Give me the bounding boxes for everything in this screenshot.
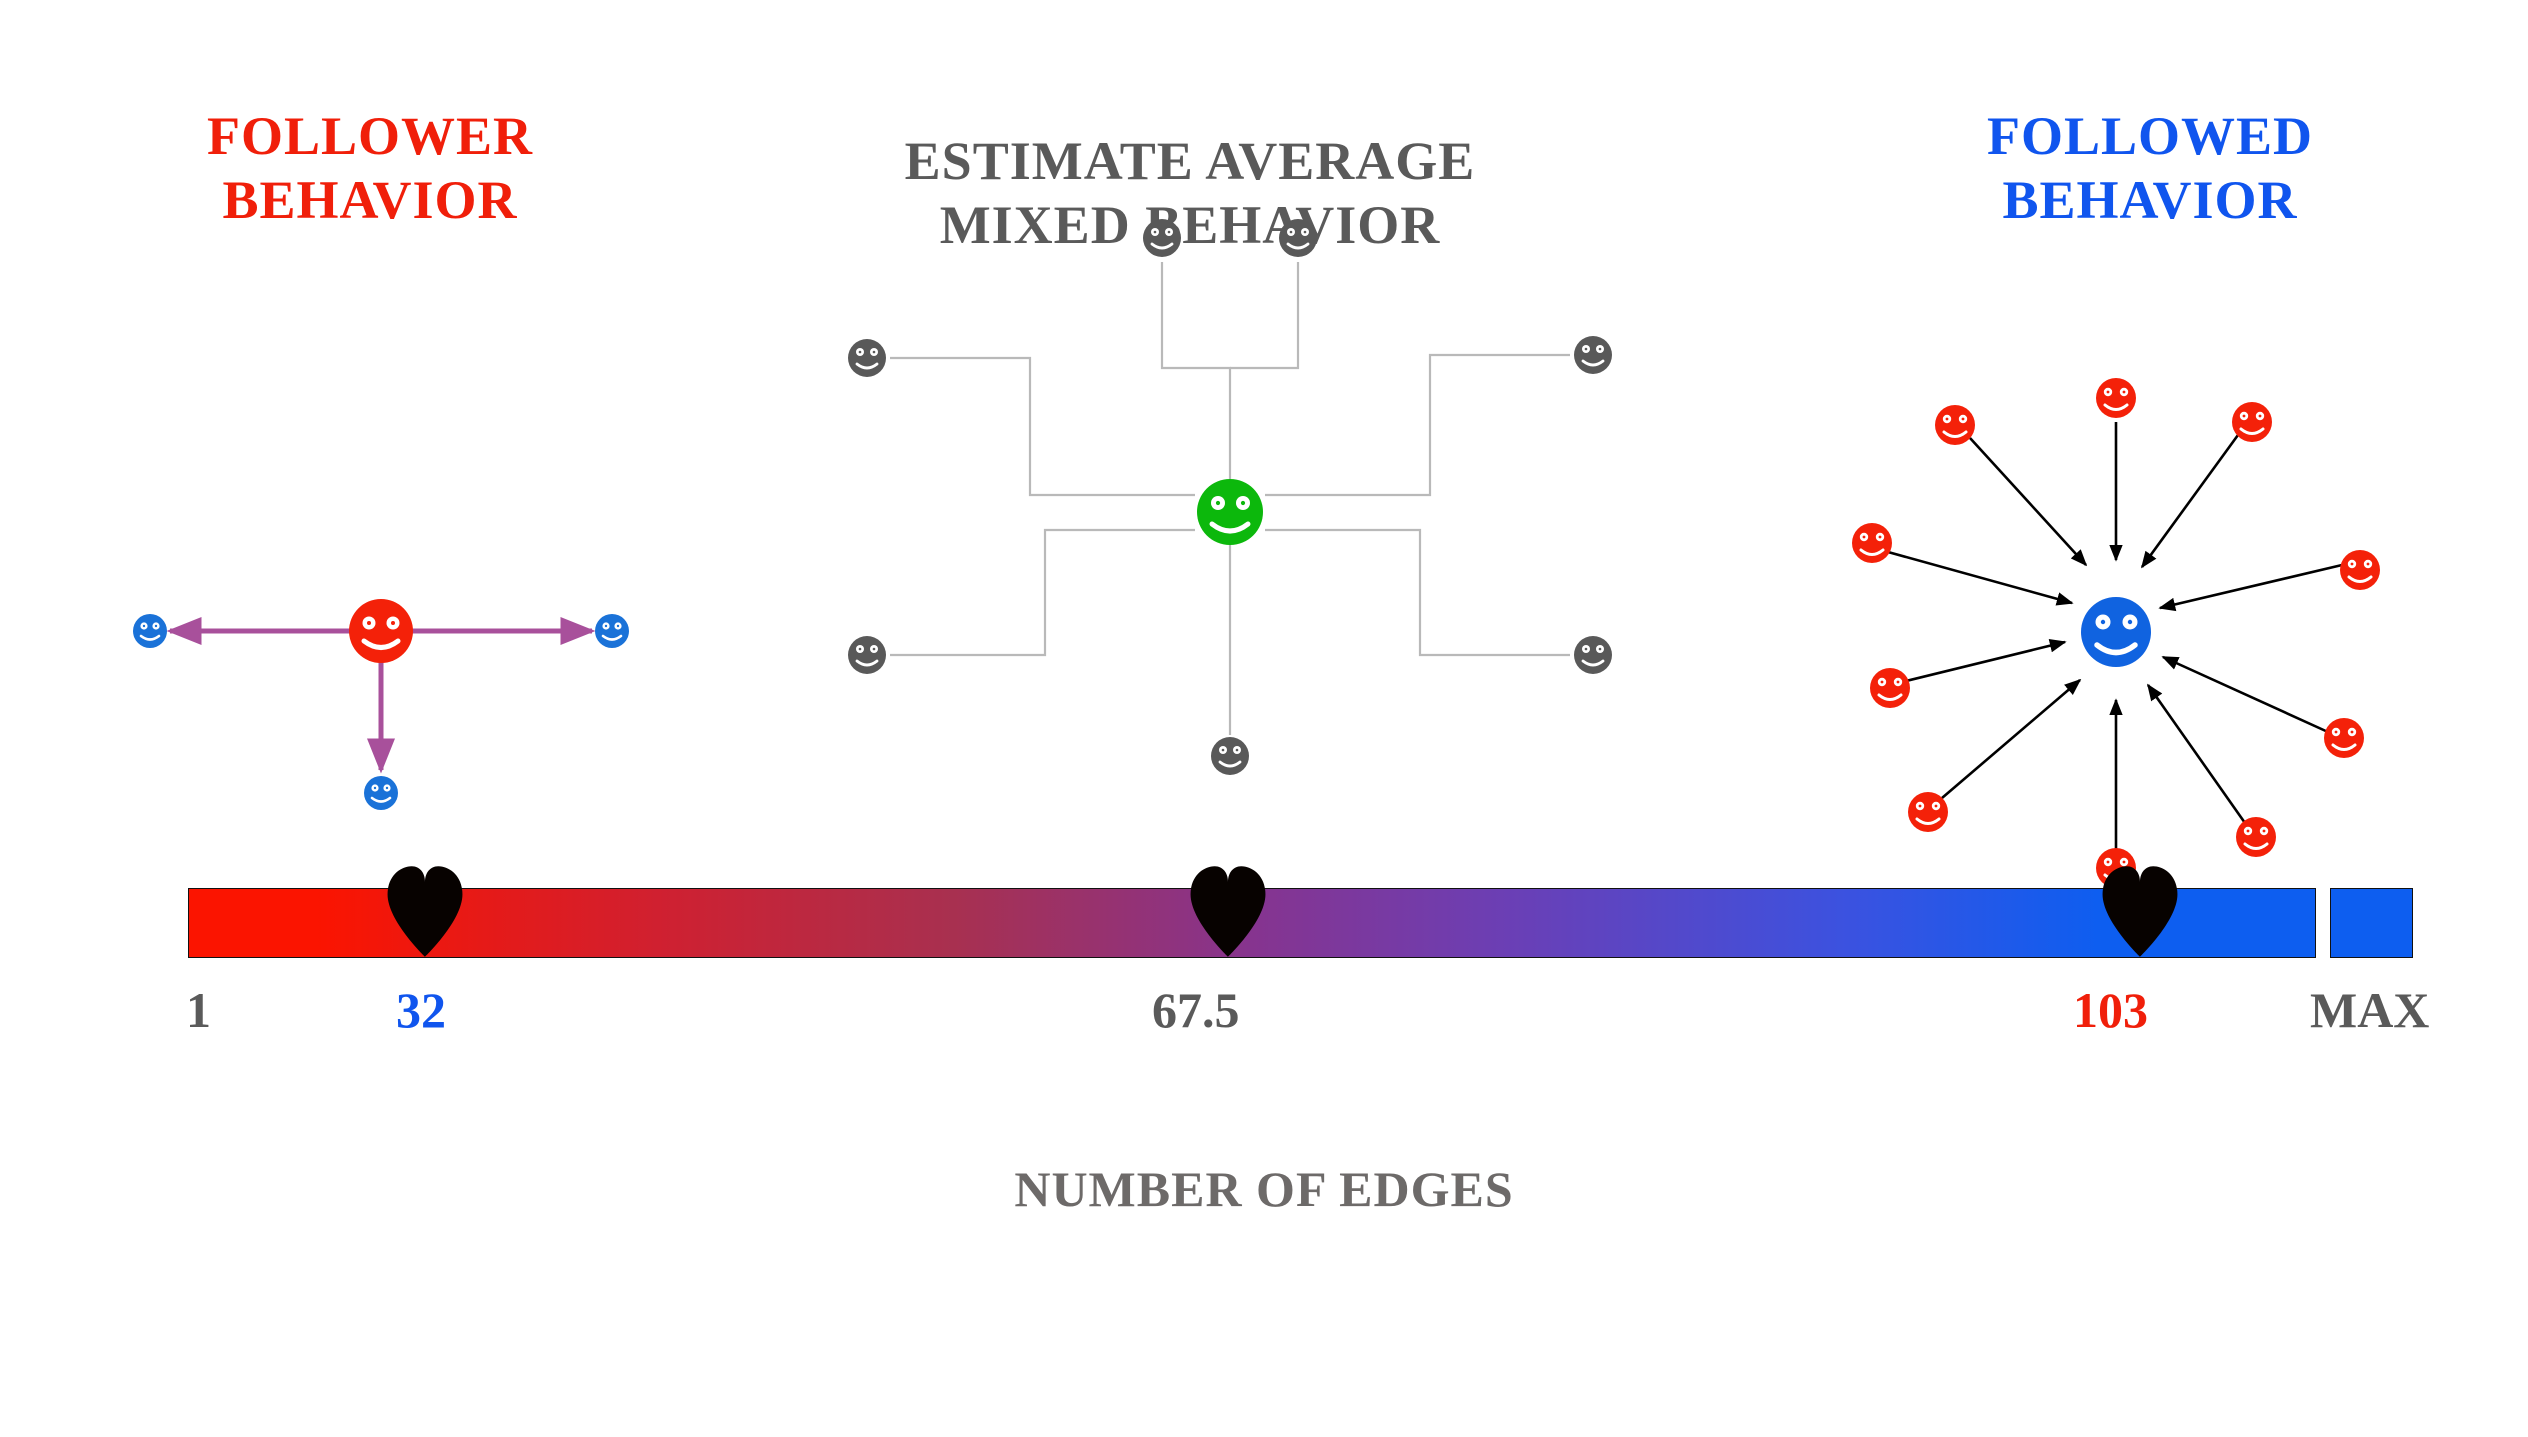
mixed-satellite-node xyxy=(848,636,886,674)
followed-satellite-node xyxy=(1935,405,1975,445)
heading-followed-behavior: FOLLOWED BEHAVIOR xyxy=(1840,105,2460,232)
mixed-edges xyxy=(890,262,1570,735)
axis-tick-max: MAX xyxy=(2310,985,2429,1035)
followed-edges xyxy=(1888,422,2342,850)
axis-tick-low: 32 xyxy=(396,985,446,1035)
followed-satellite-node xyxy=(2096,848,2136,888)
heading-mixed-behavior: ESTIMATE AVERAGE MIXED BEHAVIOR xyxy=(800,130,1580,257)
mixed-satellite-node xyxy=(1574,636,1612,674)
followed-satellite-node xyxy=(1870,668,1910,708)
follower-satellite-node xyxy=(364,776,398,810)
axis-tick-high: 103 xyxy=(2073,985,2148,1035)
follower-satellite-node xyxy=(133,614,167,648)
mixed-satellite-node xyxy=(1574,336,1612,374)
axis-tick-mid: 67.5 xyxy=(1152,985,1240,1035)
mixed-center-node xyxy=(1197,479,1263,545)
follower-network-diagram xyxy=(120,540,740,870)
mixed-satellite-node xyxy=(848,339,886,377)
followed-satellite-node xyxy=(2236,817,2276,857)
followed-satellite-node xyxy=(1908,792,1948,832)
axis-tick-min: 1 xyxy=(186,985,211,1035)
infographic-canvas: FOLLOWER BEHAVIOR ESTIMATE AVERAGE MIXED… xyxy=(0,0,2528,1437)
heading-follower-behavior: FOLLOWER BEHAVIOR xyxy=(60,105,680,232)
followed-network-diagram xyxy=(1820,360,2440,860)
follower-satellite-node xyxy=(595,614,629,648)
follower-edges xyxy=(170,631,592,770)
axis-caption: NUMBER OF EDGES xyxy=(0,1160,2528,1218)
followed-satellite-node xyxy=(2232,402,2272,442)
follower-center-node xyxy=(349,599,413,663)
followed-satellite-node xyxy=(2340,550,2380,590)
followed-satellite-node xyxy=(2096,378,2136,418)
followed-center-node xyxy=(2081,597,2151,667)
mixed-network-diagram xyxy=(900,280,1560,880)
followed-satellite-node xyxy=(1852,523,1892,563)
followed-satellite-node xyxy=(2324,718,2364,758)
edges-gradient-bar[interactable] xyxy=(188,888,2316,958)
edges-max-segment[interactable] xyxy=(2330,888,2413,958)
mixed-satellite-node xyxy=(1211,737,1249,775)
